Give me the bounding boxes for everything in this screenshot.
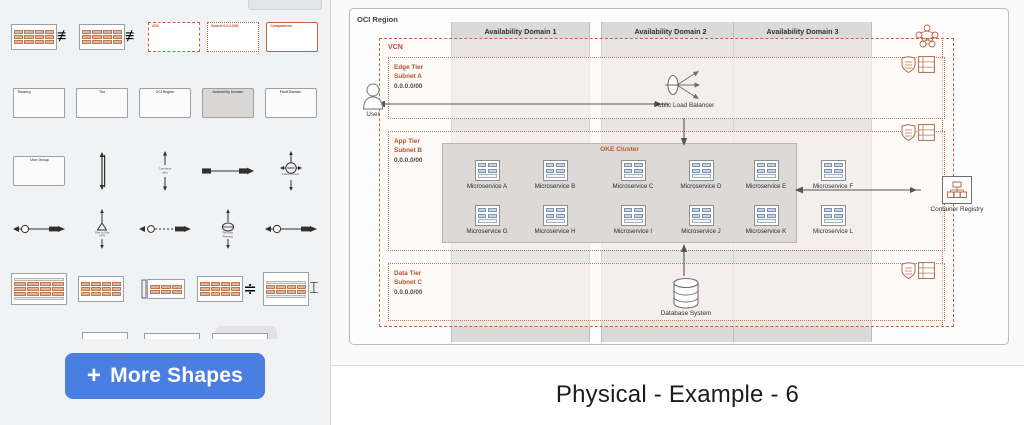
shape-item-arrow-dotted[interactable]	[137, 206, 194, 252]
database-icon	[672, 277, 700, 309]
vcn-attachment-pair-2[interactable]	[901, 124, 935, 141]
container-registry-box	[942, 176, 972, 204]
microservice-node-k[interactable]: Microservice K	[736, 205, 796, 235]
microservice-icon	[543, 160, 568, 181]
shape-item-user-group[interactable]: User Group	[11, 148, 68, 194]
shape-item-arrow-double-vertical[interactable]	[74, 148, 131, 194]
microservice-label: Microservice J	[671, 228, 731, 235]
connector-label: RemotePeering	[200, 232, 256, 239]
microservice-label: Microservice A	[457, 183, 517, 190]
more-shapes-button[interactable]: + More Shapes	[65, 353, 265, 399]
shape-item-site-to-site-vpn[interactable]: Site to SiteVPN	[74, 206, 131, 252]
rack-icon	[11, 273, 67, 305]
connector-dotted-horizontal	[137, 209, 193, 249]
microservice-icon	[689, 160, 714, 181]
microservice-label: Microservice E	[736, 183, 796, 190]
service-mesh-icon[interactable]	[912, 24, 942, 52]
microservice-icon	[754, 160, 779, 181]
rack-icon	[197, 276, 243, 302]
microservice-node-l[interactable]: Microservice L	[803, 205, 863, 235]
shape-label: Tier	[77, 91, 127, 95]
subnet-shape: Subnet 0.0.0.0/00	[207, 22, 259, 52]
tier-shape: Tier	[76, 88, 128, 118]
shape-item-remote-peering[interactable]: RemotePeering	[199, 206, 256, 252]
shape-item-arrow-horizontal[interactable]	[199, 148, 256, 194]
microservice-icon	[621, 160, 646, 181]
microservice-label: Microservice I	[603, 228, 663, 235]
container-registry-icon	[947, 181, 967, 199]
shape-item-arrow-circle-1[interactable]	[11, 206, 68, 252]
microservice-icon	[754, 205, 779, 226]
shape-item-subnet[interactable]: Subnet 0.0.0.0/00	[206, 14, 259, 60]
shape-label: Subnet 0.0.0.0/00	[211, 25, 239, 29]
shape-item-availability-domain[interactable]: Availability Domain	[199, 80, 256, 126]
microservice-label: Microservice C	[603, 183, 663, 190]
shape-row: ≢ ≢ VCN	[0, 12, 330, 62]
microservice-node-i[interactable]: Microservice I	[603, 205, 663, 235]
vcn-attachment-pair-3[interactable]	[901, 262, 935, 279]
shape-item-compartment[interactable]: Compartment	[266, 14, 319, 60]
security-list-icon	[901, 124, 916, 141]
connector-remote-peering: RemotePeering	[200, 209, 256, 249]
canvas-side: OCI Region Availability Domain 1 Availab…	[331, 0, 1024, 425]
rack-icon	[147, 279, 185, 299]
microservice-label: Microservice D	[671, 183, 731, 190]
shape-label: Compartment	[270, 25, 292, 29]
shape-item-rack-side[interactable]	[135, 266, 191, 312]
shape-item-rack-wide[interactable]	[73, 266, 129, 312]
rack-overlay-mark: ≑	[243, 279, 256, 299]
connector-circle-horizontal	[263, 209, 319, 249]
shape-item-fastconnect[interactable]: FastConnect	[262, 148, 319, 194]
rack-icon	[11, 24, 57, 50]
app-root: ≢ ≢ VCN	[0, 0, 1024, 425]
security-list-icon	[901, 262, 916, 279]
rack-icon	[78, 276, 124, 302]
rack-overlay-mark: ≢	[57, 28, 73, 46]
rack-icon	[263, 272, 309, 306]
shape-item-arrow-connects-with[interactable]: Connectswith	[137, 148, 194, 194]
shape-item-tier[interactable]: Tier	[74, 80, 131, 126]
shape-label: User Group	[14, 159, 64, 163]
microservice-node-j[interactable]: Microservice J	[671, 205, 731, 235]
shape-item-rack-tall-marked[interactable]: ⌶	[263, 266, 319, 312]
shape-label: OCI Region	[140, 91, 190, 95]
connector-double-vertical	[74, 151, 130, 191]
route-table-icon	[918, 56, 935, 73]
user-label: User	[351, 111, 395, 118]
shape-label: Fault Domain	[266, 91, 316, 95]
more-shapes-label: More Shapes	[110, 364, 243, 388]
microservice-label: Microservice H	[525, 228, 585, 235]
microservice-label: Microservice B	[525, 183, 585, 190]
rack-icon	[79, 24, 125, 50]
security-list-icon	[901, 56, 916, 73]
route-table-icon	[918, 262, 935, 279]
microservice-icon	[475, 160, 500, 181]
connector-label: FastConnect	[263, 173, 319, 177]
shape-item-rack-complex-1[interactable]: ≢	[11, 14, 73, 60]
microservice-node-h[interactable]: Microservice H	[525, 205, 585, 235]
shape-label: VCN	[152, 25, 159, 29]
container-registry-node[interactable]: Container Registry	[926, 176, 988, 214]
shape-item-fault-domain[interactable]: Fault Domain	[262, 80, 319, 126]
vcn-attachment-pair-1[interactable]	[901, 56, 935, 73]
availability-domain-shape: Availability Domain	[202, 88, 254, 118]
connector-label: Site to SiteVPN	[74, 231, 130, 238]
microservice-label: Microservice G	[457, 228, 517, 235]
shape-item-rack-complex-2[interactable]: ≢	[79, 14, 141, 60]
shape-item-rack-marked[interactable]: ≑	[197, 266, 256, 312]
shape-item-vcn[interactable]: VCN	[147, 14, 200, 60]
microservice-node-c[interactable]: Microservice C	[603, 160, 663, 190]
connector-circle-horizontal	[11, 209, 67, 249]
caption-bar: Physical - Example - 6	[331, 366, 1024, 424]
public-load-balancer-node[interactable]: Public Load Balancer	[630, 68, 738, 109]
shape-item-oci-region[interactable]: OCI Region	[137, 80, 194, 126]
rack-overlay-mark: ⌶	[309, 280, 319, 298]
database-system-node[interactable]: Database System	[631, 277, 741, 317]
microservice-label: Microservice L	[803, 228, 863, 235]
microservice-label: Microservice F	[803, 183, 863, 190]
microservice-node-e[interactable]: Microservice E	[736, 160, 796, 190]
shape-item-tenancy[interactable]: Tenancy	[11, 80, 68, 126]
route-table-icon	[918, 124, 935, 141]
connector-site-to-site-vpn: Site to SiteVPN	[74, 209, 130, 249]
container-registry-label: Container Registry	[926, 206, 988, 214]
microservice-icon	[475, 205, 500, 226]
oci-region-shape: OCI Region	[139, 88, 191, 118]
microservice-icon	[689, 205, 714, 226]
microservice-label: Microservice K	[736, 228, 796, 235]
microservice-icon	[821, 205, 846, 226]
shape-item-arrow-circle-2[interactable]	[262, 206, 319, 252]
microservice-node-b[interactable]: Microservice B	[525, 160, 585, 190]
shape-item-rack-wide-cap[interactable]	[11, 266, 67, 312]
rack-overlay-mark: ≢	[125, 28, 141, 46]
microservice-node-d[interactable]: Microservice D	[671, 160, 731, 190]
shape-row: Site to SiteVPN	[0, 204, 330, 254]
diagram-caption: Physical - Example - 6	[556, 381, 799, 409]
user-group-shape: User Group	[13, 156, 65, 186]
vcn-shape: VCN	[148, 22, 200, 52]
public-load-balancer-label: Public Load Balancer	[630, 102, 738, 109]
shape-label: Tenancy	[17, 91, 31, 95]
database-system-label: Database System	[631, 310, 741, 317]
microservice-node-a[interactable]: Microservice A	[457, 160, 517, 190]
plus-icon: +	[87, 364, 101, 388]
shape-label: Availability Domain	[203, 91, 253, 95]
user-node[interactable]: User	[351, 82, 395, 118]
compartment-shape: Compartment	[266, 22, 318, 52]
connector-connects-with: Connectswith	[137, 151, 193, 191]
user-icon	[360, 82, 386, 110]
more-shapes-footer: + More Shapes	[0, 339, 330, 425]
tenancy-shape: Tenancy	[13, 88, 65, 118]
connector-horizontal	[200, 151, 256, 191]
connector-label: Connectswith	[137, 167, 193, 174]
microservice-icon	[543, 205, 568, 226]
microservice-icon	[621, 205, 646, 226]
oci-architecture-diagram: OCI Region Availability Domain 1 Availab…	[331, 0, 1024, 366]
shapes-panel: ≢ ≢ VCN	[0, 0, 331, 425]
load-balancer-icon	[661, 68, 707, 102]
shape-row: User Group	[0, 146, 330, 196]
diagram-canvas[interactable]: OCI Region Availability Domain 1 Availab…	[331, 0, 1024, 366]
connector-fastconnect: FastConnect	[263, 151, 319, 191]
shape-row: ≑ ⌶	[0, 264, 330, 314]
microservice-node-g[interactable]: Microservice G	[457, 205, 517, 235]
microservice-icon	[821, 160, 846, 181]
microservice-node-f[interactable]: Microservice F	[803, 160, 863, 190]
shape-row: Tenancy Tier OCI Region Availability Dom…	[0, 78, 330, 128]
fault-domain-shape: Fault Domain	[265, 88, 317, 118]
